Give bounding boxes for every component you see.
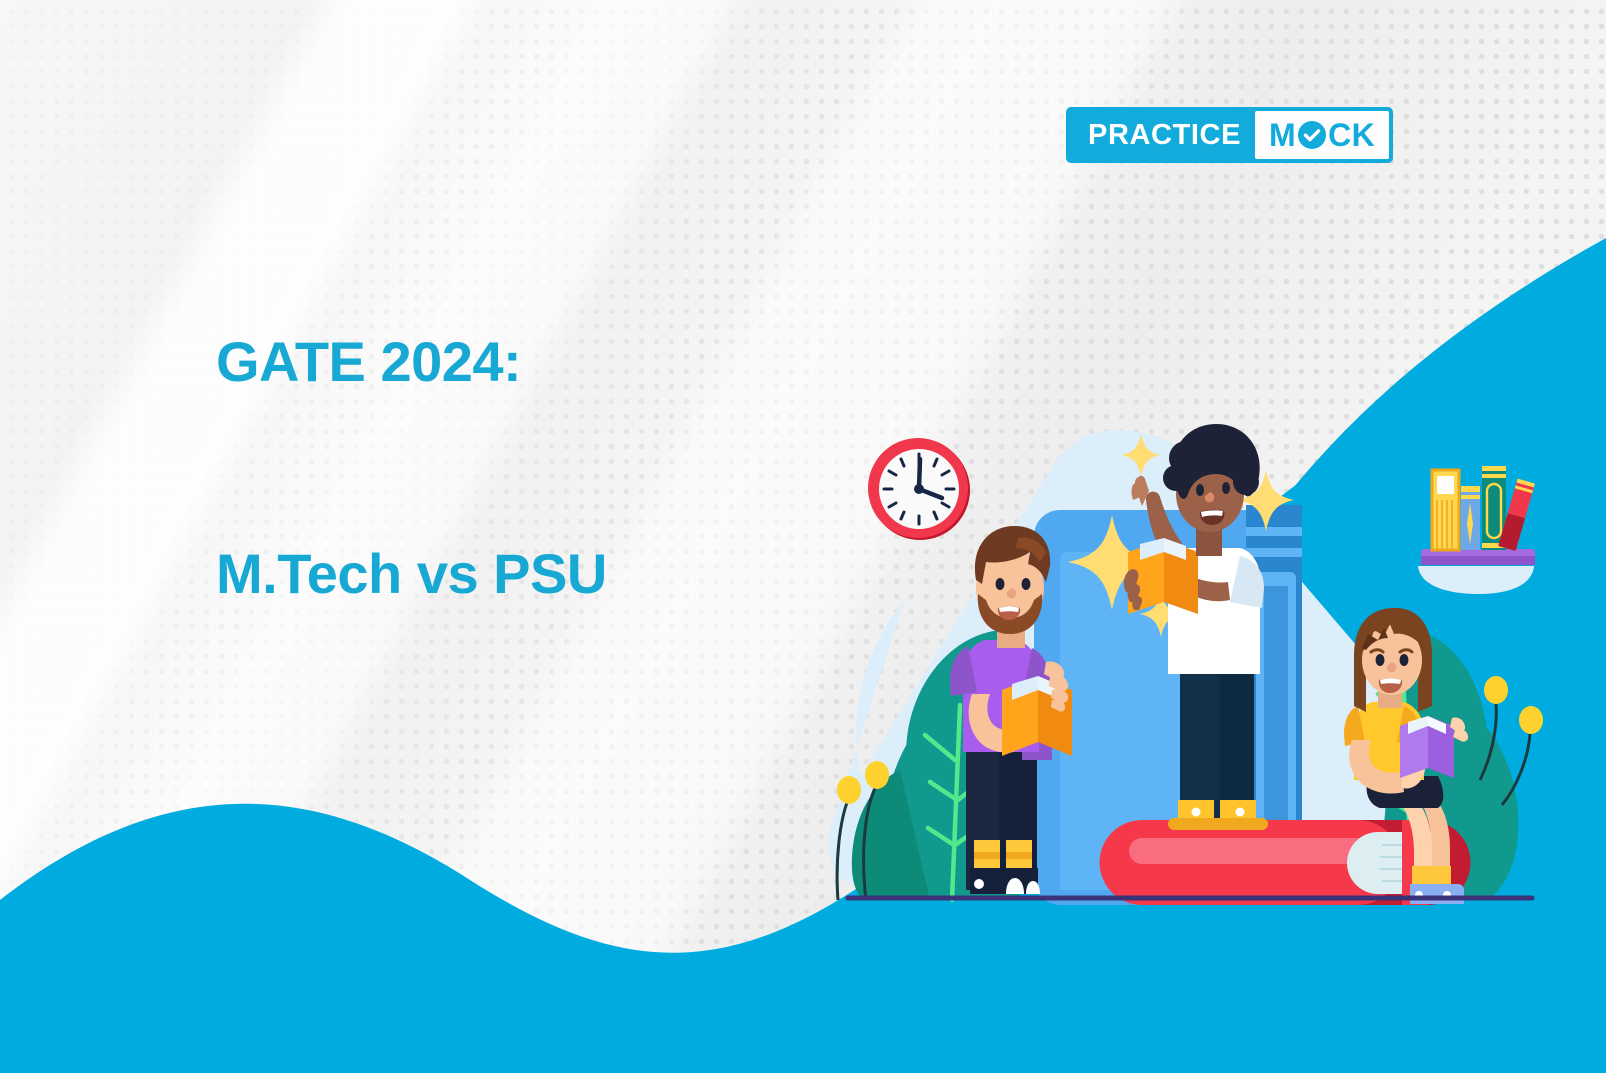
- headline-line-1: GATE 2024:: [216, 327, 607, 398]
- logo-mock-m: M: [1269, 117, 1296, 154]
- headline-line-2: M.Tech vs PSU: [216, 539, 607, 610]
- logo-mock-ck: CK: [1328, 117, 1375, 154]
- banner-root: GATE 2024: M.Tech vs PSU PRACTICE M CK: [0, 0, 1606, 1073]
- practicemock-logo[interactable]: PRACTICE M CK: [1066, 107, 1393, 163]
- logo-word-practice: PRACTICE: [1070, 111, 1255, 159]
- wall-clock: [868, 438, 970, 540]
- logo-word-mock: M CK: [1255, 111, 1389, 159]
- check-circle-icon: [1297, 120, 1327, 150]
- page-title: GATE 2024: M.Tech vs PSU: [216, 186, 607, 750]
